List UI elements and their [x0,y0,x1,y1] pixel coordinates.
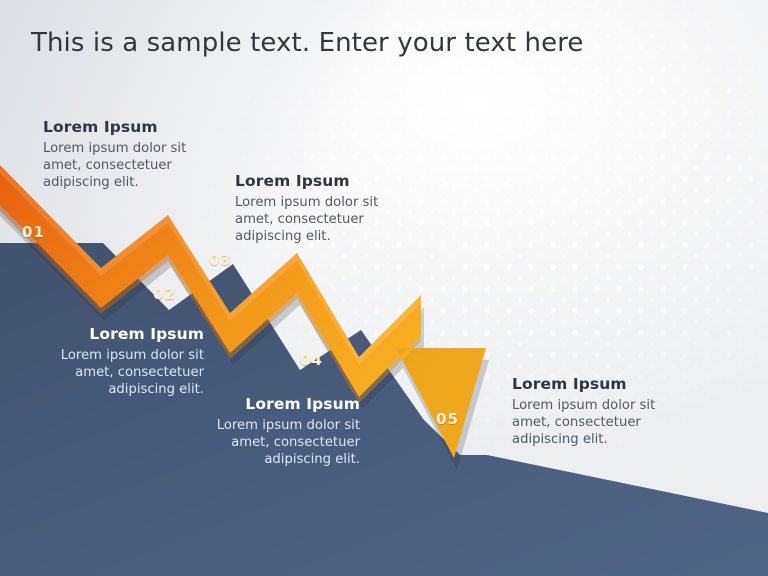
step-number-01: 01 [22,223,45,241]
step-text-block-03: Lorem Ipsum Lorem ipsum dolor sit amet, … [235,171,385,246]
page-title: This is a sample text. Enter your text h… [31,28,584,58]
slide-canvas: This is a sample text. Enter your text h… [0,0,768,576]
step-heading-01: Lorem Ipsum [43,117,215,137]
step-body-03: Lorem ipsum dolor sit amet, consectetuer… [235,194,385,245]
step-text-block-05: Lorem Ipsum Lorem ipsum dolor sit amet, … [512,374,664,449]
step-heading-03: Lorem Ipsum [235,171,385,191]
step-text-block-04: Lorem Ipsum Lorem ipsum dolor sit amet, … [205,394,360,469]
step-heading-02: Lorem Ipsum [40,324,204,344]
step-text-block-01: Lorem Ipsum Lorem ipsum dolor sit amet, … [43,117,215,192]
step-number-03: 03 [209,251,232,269]
step-number-05: 05 [436,410,459,428]
step-text-block-02: Lorem Ipsum Lorem ipsum dolor sit amet, … [40,324,204,399]
step-body-01: Lorem ipsum dolor sit amet, consectetuer… [43,140,215,191]
step-body-05: Lorem ipsum dolor sit amet, consectetuer… [512,397,664,448]
zigzag-arrow-graphic [0,0,768,576]
step-body-04: Lorem ipsum dolor sit amet, consectetuer… [205,417,360,468]
step-number-02: 02 [153,285,176,303]
step-number-04: 04 [300,351,323,369]
step-body-02: Lorem ipsum dolor sit amet, consectetuer… [40,347,204,398]
step-heading-04: Lorem Ipsum [205,394,360,414]
step-heading-05: Lorem Ipsum [512,374,664,394]
